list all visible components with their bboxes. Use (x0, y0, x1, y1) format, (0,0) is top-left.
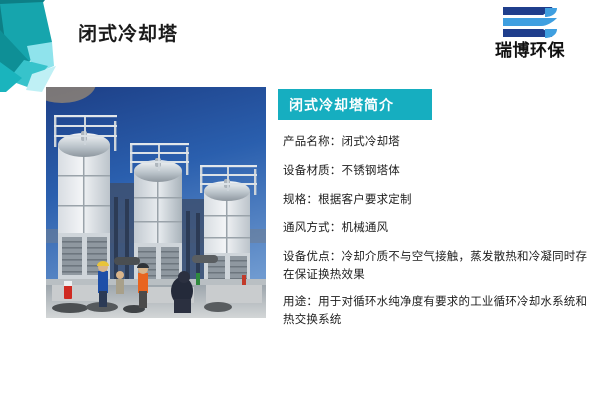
brand-logo: 瑞博环保 (478, 6, 582, 72)
spec-row-ventilation: 通风方式：机械通风 (278, 220, 595, 238)
wave-bars-logo-icon (499, 6, 561, 40)
spec-row-material: 设备材质：不锈钢塔体 (278, 163, 595, 181)
spec-row-application: 用途：用于对循环水纯净度有要求的工业循环冷却水系统和热交换系统 (278, 294, 595, 330)
spec-row-specification: 规格：根据客户要求定制 (278, 192, 595, 210)
panel-header-title: 闭式冷却塔简介 (278, 89, 432, 120)
brand-name-label: 瑞博环保 (478, 42, 582, 61)
spec-list: 产品名称：闭式冷却塔 设备材质：不锈钢塔体 规格：根据客户要求定制 通风方式：机… (278, 134, 596, 330)
cooling-tower-photo (46, 87, 266, 318)
page-title: 闭式冷却塔 (78, 24, 178, 47)
info-panel: 闭式冷却塔简介 产品名称：闭式冷却塔 设备材质：不锈钢塔体 规格：根据客户要求定… (278, 89, 596, 339)
spec-row-advantages: 设备优点：冷却介质不与空气接触，蒸发散热和冷凝同时存在保证换热效果 (278, 249, 595, 285)
triangle-cluster-decoration-icon (0, 0, 60, 92)
slide-canvas: 闭式冷却塔 瑞博环保 (0, 0, 600, 400)
spec-row-product-name: 产品名称：闭式冷却塔 (278, 134, 595, 152)
